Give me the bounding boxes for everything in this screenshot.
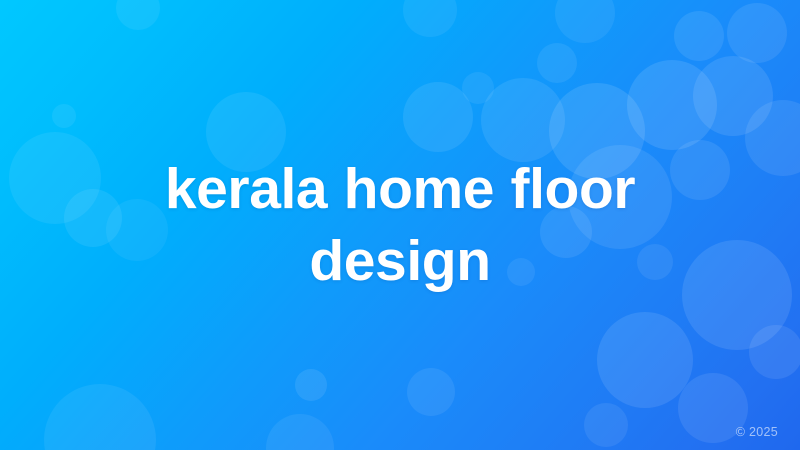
title-container: kerala home floor design bbox=[0, 0, 800, 450]
page-title: kerala home floor design bbox=[70, 153, 730, 298]
copyright-notice: © 2025 bbox=[736, 425, 778, 439]
title-card: kerala home floor design © 2025 bbox=[0, 0, 800, 450]
